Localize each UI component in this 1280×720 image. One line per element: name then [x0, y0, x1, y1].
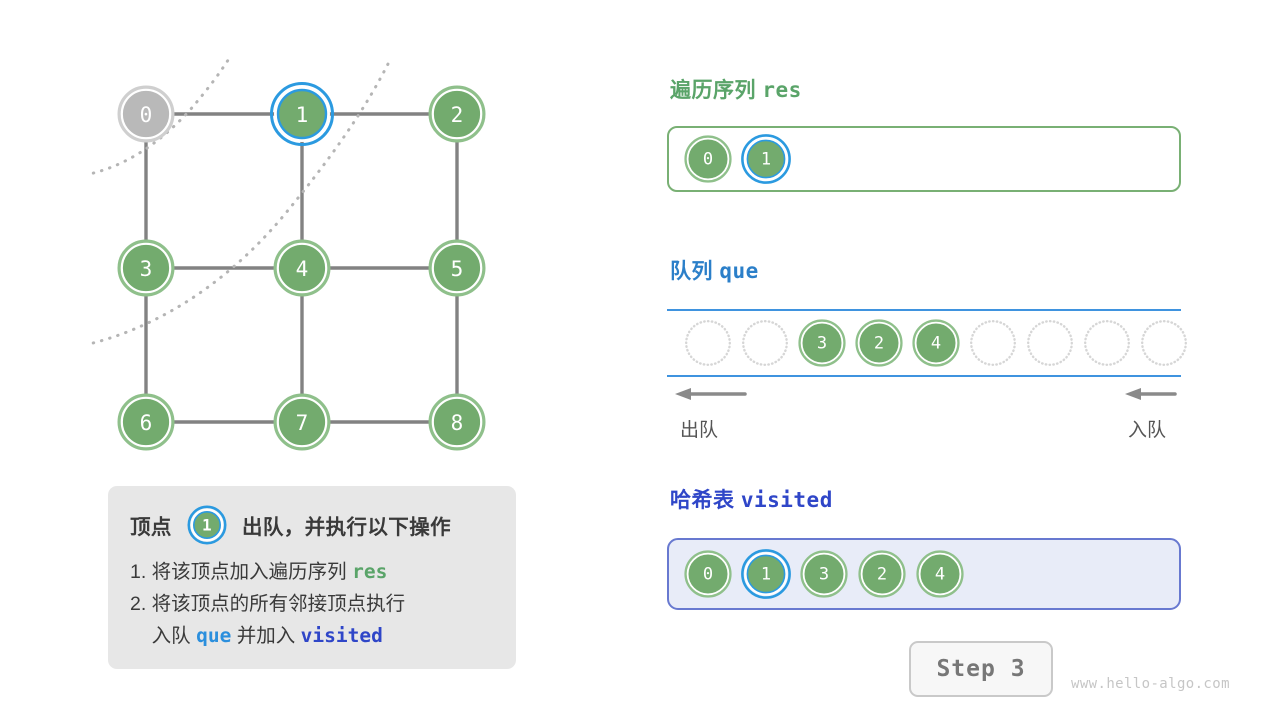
visited-token-3[interactable]: 3 — [799, 549, 849, 599]
graph-node-3[interactable]: 3 — [120, 242, 172, 294]
node-label: 0 — [140, 103, 153, 127]
graph-node-2[interactable]: 2 — [431, 88, 483, 140]
dequeue-arrow-icon — [675, 388, 745, 400]
visited-token-0[interactable]: 0 — [683, 549, 733, 599]
graph-diagram: 012345678 — [90, 55, 540, 475]
node-label: 8 — [451, 411, 464, 435]
caption-step-2: 2. 将该顶点的所有邻接顶点执行 — [130, 589, 494, 621]
caption-step-2-mid: 并加入 — [231, 625, 300, 647]
caption-step-2-num: 2. — [130, 593, 146, 615]
caption-step-1-code-res: res — [352, 560, 387, 583]
node-label: 7 — [296, 411, 309, 435]
visited-title-cn: 哈希表 — [670, 489, 741, 512]
queue-dequeue-label: 出队 — [680, 415, 718, 442]
queue-empty-slot-8[interactable] — [1139, 318, 1189, 368]
visited-item-list: 01324 — [683, 548, 965, 600]
token-label: 4 — [935, 565, 945, 585]
queue-empty-slot-6[interactable] — [1025, 318, 1075, 368]
node-label: 6 — [140, 411, 153, 435]
step-badge: Step 3 — [909, 641, 1053, 697]
queue-empty-slot-0[interactable] — [683, 318, 733, 368]
watermark-text: www.hello-algo.com — [1071, 676, 1230, 692]
caption-step-1-num: 1. — [130, 561, 146, 583]
queue-panel-title: 队列 que — [670, 255, 759, 285]
graph-node-4[interactable]: 4 — [276, 242, 328, 294]
caption-step-2-cont: 入队 que 并加入 visited — [130, 620, 494, 653]
caption-steps-list: 1. 将该顶点加入遍历序列 res 2. 将该顶点的所有邻接顶点执行 入队 qu… — [130, 556, 494, 653]
caption-badge-label: 1 — [202, 516, 212, 535]
token-label: 3 — [817, 334, 827, 354]
queue-title-cn: 队列 — [670, 260, 719, 283]
caption-step-2-code-que: que — [196, 624, 231, 647]
graph-canvas: 012345678 — [90, 55, 540, 475]
enqueue-arrow-icon — [1125, 388, 1175, 400]
token-label: 0 — [703, 565, 713, 585]
caption-step-2-cont-text: 入队 — [130, 625, 196, 647]
queue-enqueue-label: 入队 — [1128, 415, 1166, 442]
visited-token-1[interactable]: 1 — [741, 549, 791, 599]
caption-head-suffix: 出队，并执行以下操作 — [236, 510, 451, 540]
node-label: 5 — [451, 257, 464, 281]
caption-step-1-text: 将该顶点加入遍历序列 — [146, 561, 352, 583]
empty-slot-circle — [743, 321, 787, 365]
queue-token-3[interactable]: 3 — [797, 318, 847, 368]
visited-token-4[interactable]: 4 — [915, 549, 965, 599]
queue-empty-slot-7[interactable] — [1082, 318, 1132, 368]
token-label: 4 — [931, 334, 941, 354]
caption-step-1: 1. 将该顶点加入遍历序列 res — [130, 556, 494, 589]
visited-title-code: visited — [741, 488, 833, 512]
token-label: 1 — [761, 565, 771, 585]
queue-empty-slot-5[interactable] — [968, 318, 1018, 368]
queue-token-4[interactable]: 4 — [911, 318, 961, 368]
empty-slot-circle — [971, 321, 1015, 365]
res-title-code: res — [762, 78, 801, 102]
res-panel-title: 遍历序列 res — [670, 74, 802, 104]
caption-vertex-badge: 1 — [187, 505, 227, 545]
token-label: 2 — [877, 565, 887, 585]
graph-node-5[interactable]: 5 — [431, 242, 483, 294]
empty-slot-circle — [686, 321, 730, 365]
queue-direction-arrows — [667, 384, 1181, 404]
empty-slot-circle — [1085, 321, 1129, 365]
queue-slot-list: 324 — [683, 317, 1189, 369]
empty-slot-circle — [1142, 321, 1186, 365]
queue-token-2[interactable]: 2 — [854, 318, 904, 368]
graph-node-7[interactable]: 7 — [276, 396, 328, 448]
visited-token-2[interactable]: 2 — [857, 549, 907, 599]
caption-head-prefix: 顶点 — [130, 510, 178, 540]
graph-node-6[interactable]: 6 — [120, 396, 172, 448]
caption-heading: 顶点 1 出队，并执行以下操作 — [130, 505, 494, 545]
token-label: 3 — [819, 565, 829, 585]
queue-title-code: que — [719, 259, 758, 283]
token-label: 0 — [703, 150, 713, 170]
graph-node-1[interactable]: 1 — [272, 84, 333, 145]
res-title-cn: 遍历序列 — [670, 79, 762, 102]
queue-empty-slot-1[interactable] — [740, 318, 790, 368]
token-label: 1 — [761, 150, 771, 170]
node-label: 3 — [140, 257, 153, 281]
caption-box: 顶点 1 出队，并执行以下操作 1. 将该顶点加入遍历序列 res 2. 将该顶… — [108, 486, 516, 669]
visited-panel-title: 哈希表 visited — [670, 484, 833, 514]
token-label: 2 — [874, 334, 884, 354]
caption-step-2-text: 将该顶点的所有邻接顶点执行 — [146, 593, 405, 615]
node-label: 2 — [451, 103, 464, 127]
caption-step-2-code-visited: visited — [301, 624, 383, 647]
graph-node-8[interactable]: 8 — [431, 396, 483, 448]
node-label: 4 — [296, 257, 309, 281]
res-token-1[interactable]: 1 — [741, 134, 791, 184]
node-label: 1 — [296, 103, 309, 127]
res-item-list: 01 — [683, 133, 791, 185]
res-token-0[interactable]: 0 — [683, 134, 733, 184]
empty-slot-circle — [1028, 321, 1072, 365]
graph-node-0[interactable]: 0 — [120, 88, 172, 140]
